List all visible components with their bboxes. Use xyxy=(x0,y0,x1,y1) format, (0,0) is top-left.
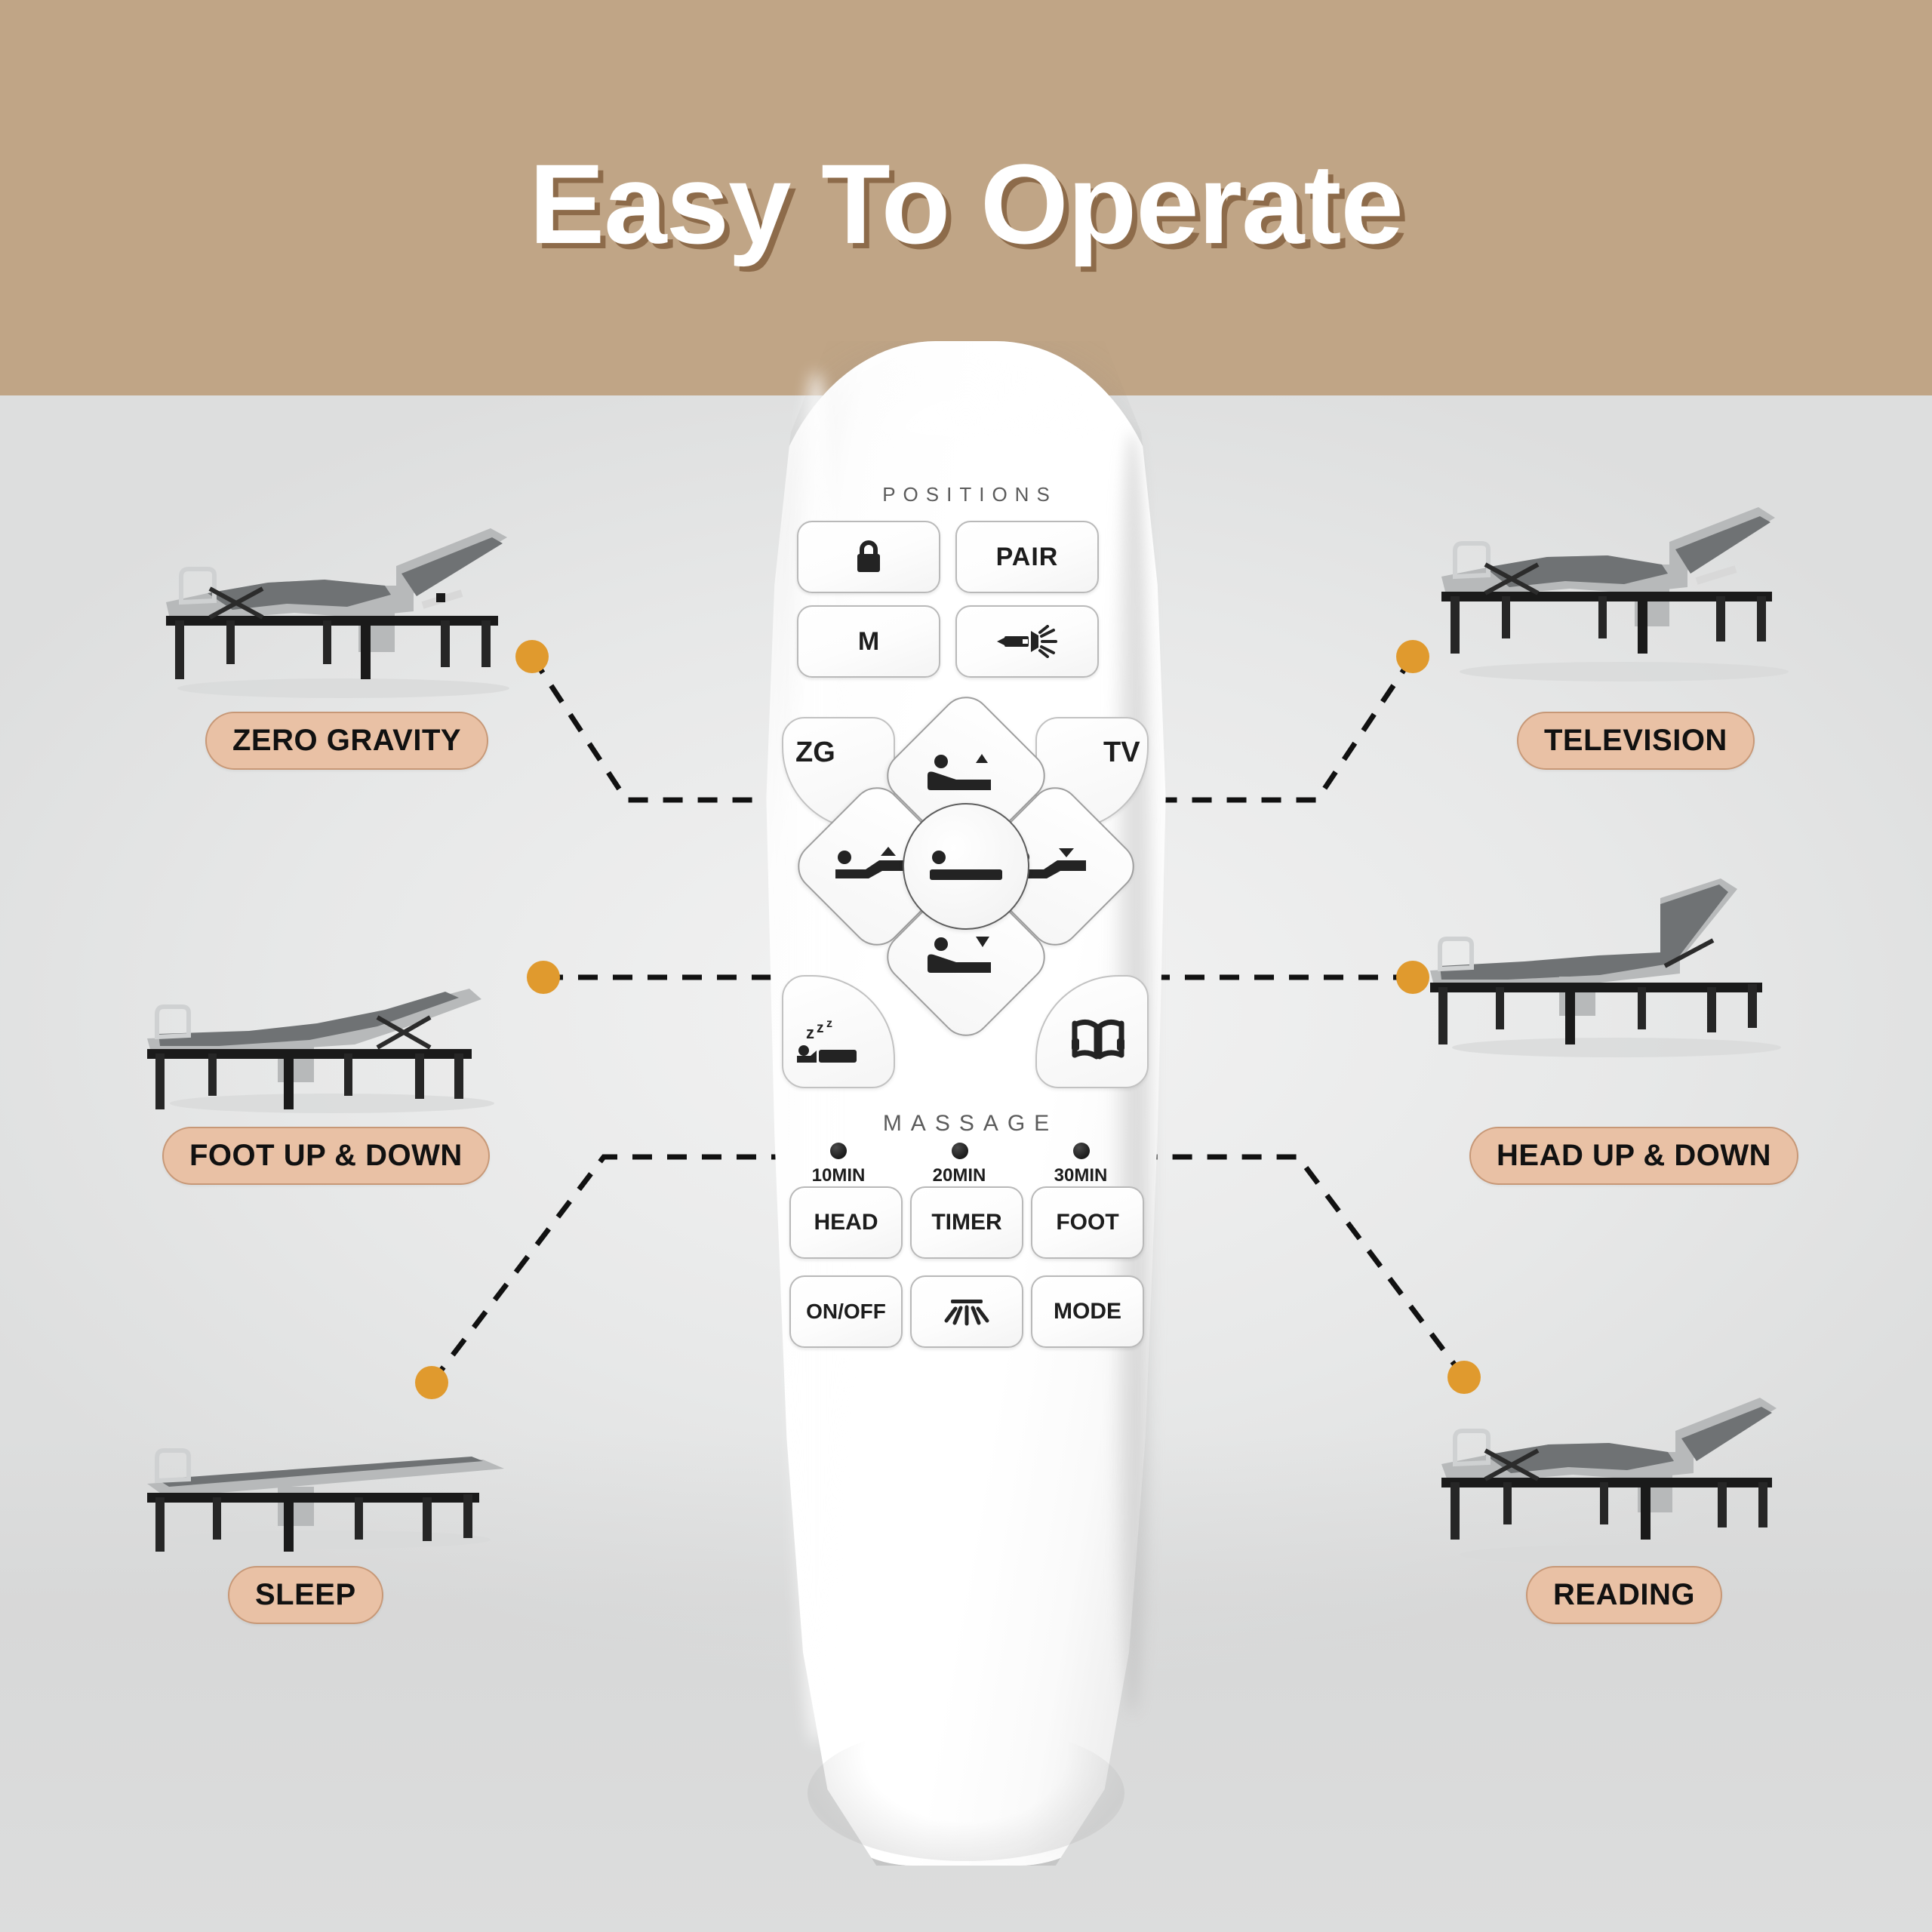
remote-control: POSITIONS PAIR M xyxy=(762,341,1170,1866)
callout-foot-up-down: FOOT UP & DOWN xyxy=(162,1127,490,1185)
lock-button[interactable] xyxy=(797,521,940,593)
tv-label: TV xyxy=(1103,737,1140,769)
led-30min xyxy=(1073,1143,1090,1159)
callout-zero-gravity: ZERO GRAVITY xyxy=(205,712,488,770)
person-foot-down-icon xyxy=(921,934,1011,980)
memory-button[interactable]: M xyxy=(797,605,940,678)
callout-reading: READING xyxy=(1526,1566,1722,1624)
massage-onoff-button[interactable]: ON/OFF xyxy=(789,1275,903,1348)
flashlight-icon xyxy=(995,625,1059,658)
led-20min xyxy=(952,1143,968,1159)
positions-section-label: POSITIONS xyxy=(762,483,1170,506)
massage-head-button[interactable]: HEAD xyxy=(789,1186,903,1259)
vibration-icon xyxy=(942,1295,992,1328)
timer-label-30min: 30MIN xyxy=(1032,1165,1130,1186)
reading-button[interactable] xyxy=(1035,975,1149,1088)
remote-face: POSITIONS PAIR M xyxy=(762,341,1170,1866)
pair-button[interactable]: PAIR xyxy=(955,521,1099,593)
massage-section-label: MASSAGE xyxy=(762,1111,1170,1137)
massage-intensity-button[interactable] xyxy=(910,1275,1023,1348)
timer-label-20min: 20MIN xyxy=(910,1165,1008,1186)
callout-television: TELEVISION xyxy=(1517,712,1755,770)
sleep-zzz-icon: z z z xyxy=(794,1016,872,1072)
massage-timer-button[interactable]: TIMER xyxy=(910,1186,1023,1259)
svg-text:z: z xyxy=(806,1023,814,1042)
callout-sleep: SLEEP xyxy=(228,1566,383,1624)
svg-text:z: z xyxy=(826,1017,832,1030)
massage-mode-button[interactable]: MODE xyxy=(1031,1275,1144,1348)
sleep-button[interactable]: z z z xyxy=(782,975,895,1088)
flat-position-button[interactable] xyxy=(903,803,1029,930)
infographic-stage: Easy To Operate xyxy=(0,0,1932,1932)
zg-label: ZG xyxy=(795,737,835,769)
flashlight-button[interactable] xyxy=(955,605,1099,678)
person-flat-icon xyxy=(927,848,1005,884)
callout-head-up-down: HEAD UP & DOWN xyxy=(1469,1127,1798,1185)
led-10min xyxy=(830,1143,847,1159)
svg-text:z: z xyxy=(817,1020,824,1036)
open-book-icon xyxy=(1069,1016,1128,1064)
massage-foot-button[interactable]: FOOT xyxy=(1031,1186,1144,1259)
lock-icon xyxy=(852,538,885,576)
person-head-up-icon xyxy=(921,752,1011,799)
timer-label-10min: 10MIN xyxy=(789,1165,888,1186)
